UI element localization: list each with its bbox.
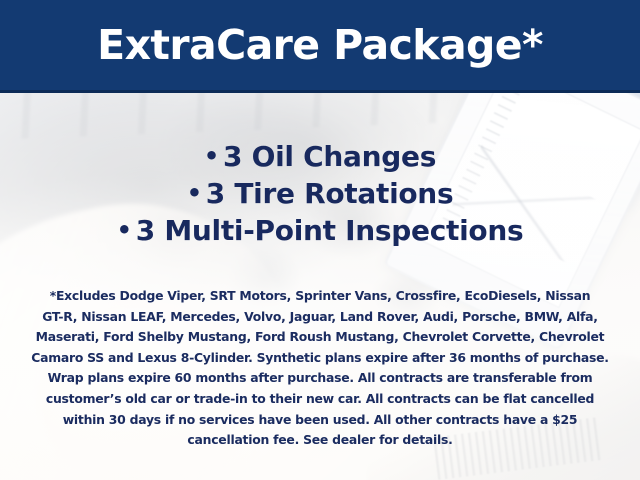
- list-item: •3 Oil Changes: [0, 138, 640, 175]
- page-title: ExtraCare Package*: [0, 0, 640, 90]
- bullet-dot-icon: •: [117, 216, 136, 244]
- disclaimer-line: Wrap plans expire 60 months after purcha…: [26, 368, 614, 389]
- disclaimer-line: customer’s old car or trade-in to their …: [26, 389, 614, 410]
- list-item: •3 Tire Rotations: [0, 175, 640, 212]
- disclaimer-line: within 30 days if no services have been …: [26, 410, 614, 431]
- disclaimer-line: Camaro SS and Lexus 8-Cylinder. Syntheti…: [26, 348, 614, 369]
- benefit-label: 3 Oil Changes: [223, 140, 436, 173]
- header-bottom-rule: [0, 90, 640, 93]
- benefits-list: •3 Oil Changes •3 Tire Rotations •3 Mult…: [0, 138, 640, 249]
- disclaimer-line: *Excludes Dodge Viper, SRT Motors, Sprin…: [26, 286, 614, 307]
- extracare-package-promo-card: ExtraCare Package* •3 Oil Changes •3 Tir…: [0, 0, 640, 480]
- bullet-dot-icon: •: [187, 179, 206, 207]
- benefit-label: 3 Multi-Point Inspections: [136, 214, 524, 247]
- disclaimer-line: GT-R, Nissan LEAF, Mercedes, Volvo, Jagu…: [26, 307, 614, 328]
- disclaimer-text: *Excludes Dodge Viper, SRT Motors, Sprin…: [26, 286, 614, 451]
- disclaimer-line: cancellation fee. See dealer for details…: [26, 430, 614, 451]
- bullet-dot-icon: •: [204, 142, 223, 170]
- list-item: •3 Multi-Point Inspections: [0, 212, 640, 249]
- disclaimer-line: Maserati, Ford Shelby Mustang, Ford Rous…: [26, 327, 614, 348]
- benefit-label: 3 Tire Rotations: [206, 177, 454, 210]
